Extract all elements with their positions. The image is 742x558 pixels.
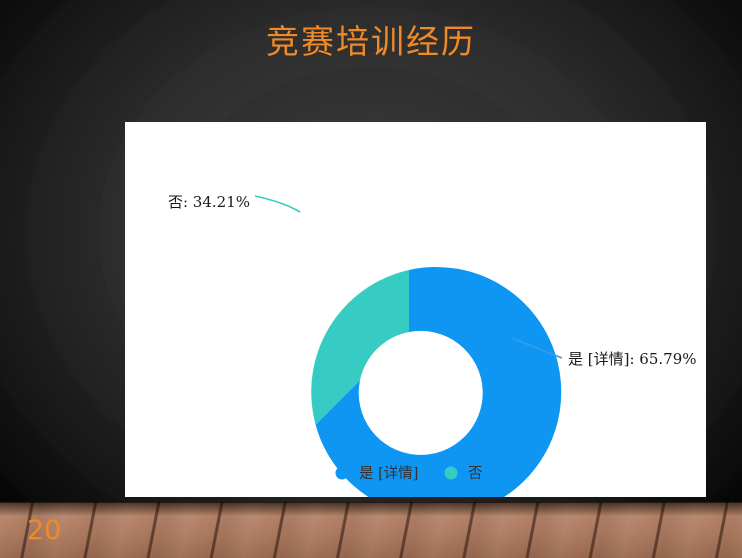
leader-line-no	[255, 196, 300, 212]
slice-label-yes: 是 [详情]: 65.79%	[568, 350, 697, 368]
slide-root: 竞赛培训经历 20 否: 34.21% 是 [详情]: 65.79% 是 [详情…	[0, 0, 742, 558]
chart-panel: 否: 34.21% 是 [详情]: 65.79% 是 [详情] 否	[125, 122, 706, 497]
legend-label-no[interactable]: 否	[468, 466, 483, 482]
page-number: 20	[27, 516, 61, 546]
page-title: 竞赛培训经历	[0, 22, 742, 62]
legend-label-yes[interactable]: 是 [详情]	[359, 465, 418, 482]
donut-slice-no[interactable]	[311, 270, 409, 425]
wooden-floor	[0, 502, 742, 558]
slice-label-no: 否: 34.21%	[168, 193, 250, 211]
legend-swatch-yes[interactable]	[336, 467, 349, 480]
legend-swatch-no[interactable]	[445, 467, 458, 480]
donut-chart: 否: 34.21% 是 [详情]: 65.79% 是 [详情] 否	[125, 122, 706, 497]
